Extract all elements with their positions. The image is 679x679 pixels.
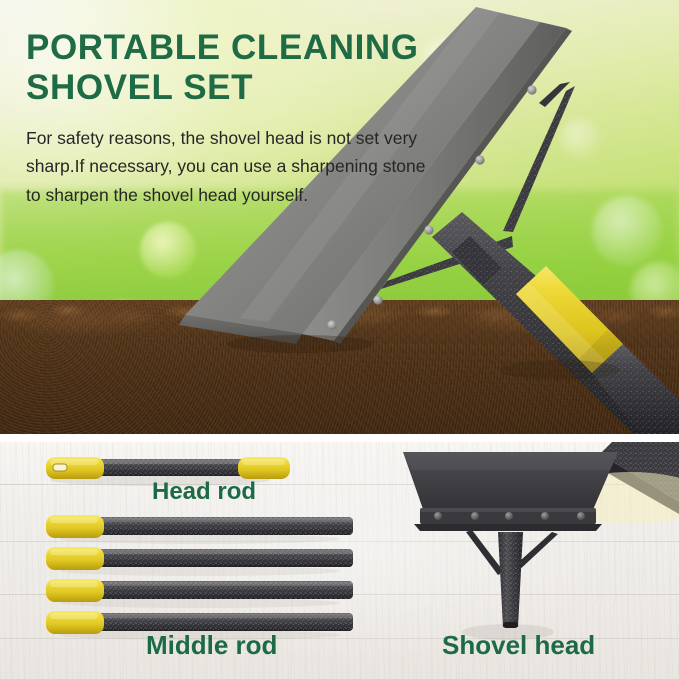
label-shovel-head: Shovel head bbox=[442, 630, 595, 661]
rivet-icon bbox=[577, 512, 585, 520]
headline-line-1: PORTABLE CLEANING bbox=[26, 28, 419, 67]
panel-divider bbox=[0, 434, 679, 442]
shovel-head-part bbox=[403, 452, 618, 640]
product-marketing-image: PORTABLE CLEANING SHOVEL SET For safety … bbox=[0, 0, 679, 679]
middle-rod-part bbox=[46, 547, 353, 576]
soil-texture bbox=[0, 300, 679, 434]
safety-description: For safety reasons, the shovel head is n… bbox=[26, 124, 441, 209]
headline-block: PORTABLE CLEANING SHOVEL SET bbox=[26, 28, 456, 108]
middle-rod-part bbox=[46, 579, 353, 608]
label-middle-rod: Middle rod bbox=[146, 630, 277, 661]
rivet-icon bbox=[505, 512, 513, 520]
page-title: PORTABLE CLEANING SHOVEL SET bbox=[26, 28, 456, 108]
rivet-icon bbox=[541, 512, 549, 520]
rivet-icon bbox=[471, 512, 479, 520]
rivet-icon bbox=[434, 512, 442, 520]
middle-rod-part bbox=[46, 515, 353, 544]
headline-line-2: SHOVEL SET bbox=[26, 68, 456, 108]
hanging-hole-icon bbox=[53, 464, 67, 471]
hero-panel: PORTABLE CLEANING SHOVEL SET For safety … bbox=[0, 0, 679, 434]
label-head-rod: Head rod bbox=[152, 478, 256, 506]
